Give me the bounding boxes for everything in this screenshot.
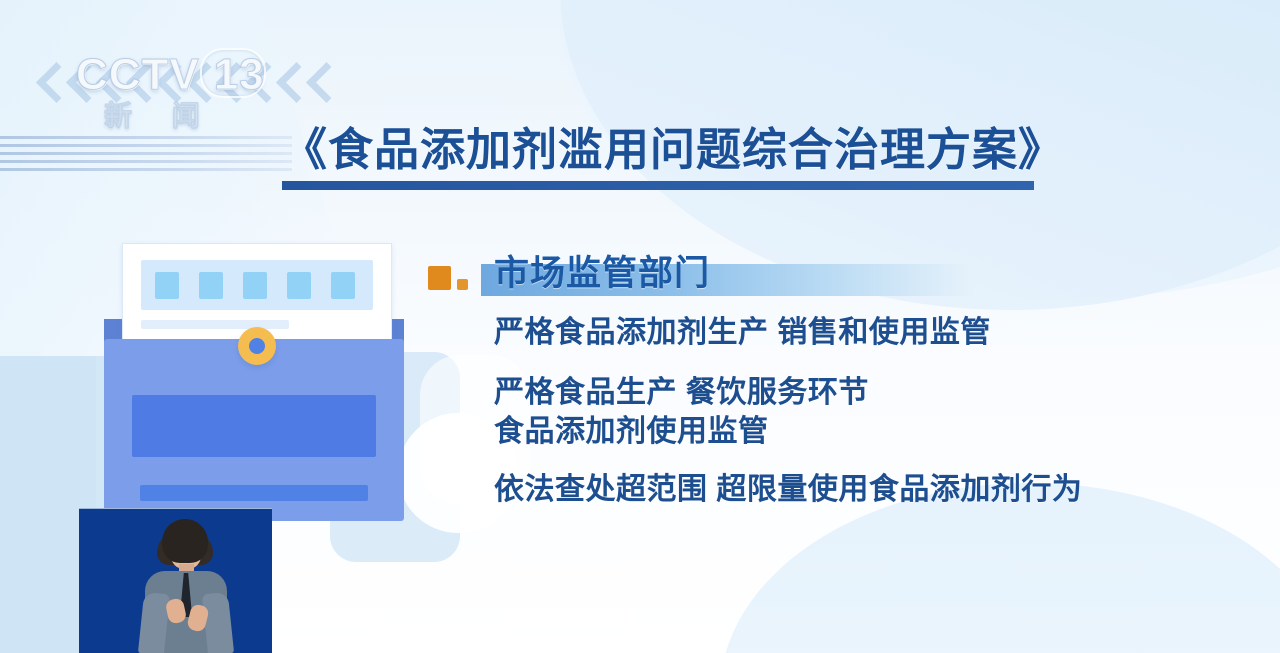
measures-list: 严格食品添加剂生产 销售和使用监管 严格食品生产 餐饮服务环节 食品添加剂使用监…	[428, 314, 1218, 510]
cctv-13-logo: CCTV13 新 闻	[76, 50, 276, 130]
interpreter-arm-right	[202, 592, 234, 653]
folder-clasp-ring-icon	[238, 327, 276, 365]
stripe-lines-decoration	[0, 136, 292, 178]
logo-channel-number: 13	[200, 50, 271, 100]
broadcast-graphic: CCTV13 新 闻 《食品添加剂滥用问题综合治理方案》	[0, 0, 1280, 653]
bullet-square-large-icon	[428, 266, 451, 290]
logo-cctv-text: CCTV	[76, 50, 200, 99]
document-folder-illustration	[98, 243, 410, 523]
folder-inner-panel	[132, 395, 376, 457]
list-item-line: 严格食品添加剂生产 销售和使用监管	[494, 314, 1218, 352]
sign-language-inset	[79, 508, 272, 653]
bullet-square-small-icon	[457, 279, 468, 290]
headline-block: 《食品添加剂滥用问题综合治理方案》	[282, 126, 1062, 190]
list-item-line: 食品添加剂使用监管	[494, 413, 1218, 451]
page-title: 《食品添加剂滥用问题综合治理方案》	[282, 126, 1062, 175]
folder-accent-bar	[140, 485, 368, 501]
section-heading-row: 市场监管部门	[428, 252, 1218, 300]
logo-subtitle: 新 闻	[104, 94, 216, 134]
interpreter-hair	[162, 519, 208, 563]
section-heading: 市场监管部门	[494, 252, 710, 296]
interpreter-figure	[79, 509, 272, 653]
list-item: 依法查处超范围 超限量使用食品添加剂行为	[494, 471, 1218, 509]
document-header-band	[141, 260, 373, 310]
document-swatch	[199, 272, 223, 299]
title-underline-bar	[282, 181, 1034, 190]
document-swatch	[287, 272, 311, 299]
document-swatch	[243, 272, 267, 299]
folder-front-pocket	[104, 339, 404, 521]
list-item-line: 依法查处超范围 超限量使用食品添加剂行为	[494, 471, 1218, 509]
list-item: 严格食品生产 餐饮服务环节 食品添加剂使用监管	[494, 374, 1218, 451]
list-item: 严格食品添加剂生产 销售和使用监管	[494, 314, 1218, 352]
document-text-line	[141, 320, 289, 329]
content-column: 市场监管部门 严格食品添加剂生产 销售和使用监管 严格食品生产 餐饮服务环节 食…	[428, 252, 1218, 532]
document-swatch	[155, 272, 179, 299]
document-swatch	[331, 272, 355, 299]
list-item-line: 严格食品生产 餐饮服务环节	[494, 374, 1218, 412]
logo-wordmark: CCTV13	[76, 50, 271, 100]
